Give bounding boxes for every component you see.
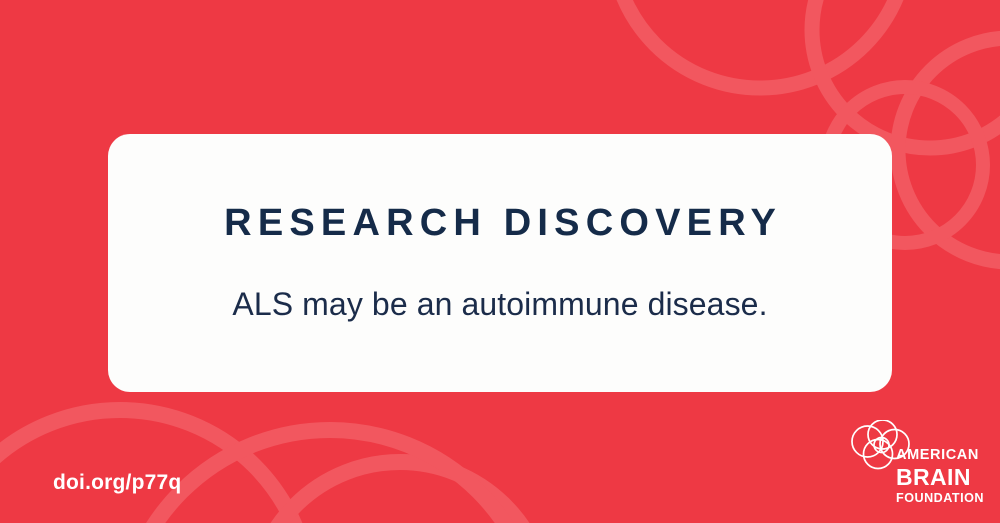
logo-line-foundation: FOUNDATION bbox=[896, 492, 984, 505]
american-brain-foundation-logo[interactable]: AMERICAN BRAIN FOUNDATION bbox=[848, 420, 988, 502]
logo-wordmark: AMERICAN BRAIN FOUNDATION bbox=[896, 448, 984, 504]
decorative-ring-4 bbox=[0, 410, 310, 523]
decorative-ring-6 bbox=[120, 430, 540, 523]
decorative-ring-1 bbox=[812, 0, 1000, 148]
decorative-ring-0 bbox=[612, 0, 908, 88]
poster-canvas: RESEARCH DISCOVERY ALS may be an autoimm… bbox=[0, 0, 1000, 523]
headline-text: ALS may be an autoimmune disease. bbox=[232, 286, 767, 323]
content-card: RESEARCH DISCOVERY ALS may be an autoimm… bbox=[108, 134, 892, 392]
page-title: RESEARCH DISCOVERY bbox=[218, 204, 782, 242]
decorative-ring-5 bbox=[252, 462, 548, 523]
decorative-ring-2 bbox=[898, 38, 1000, 262]
doi-link[interactable]: doi.org/p77q bbox=[53, 470, 181, 495]
logo-line-brain: BRAIN bbox=[896, 466, 984, 489]
logo-line-american: AMERICAN bbox=[896, 448, 984, 463]
